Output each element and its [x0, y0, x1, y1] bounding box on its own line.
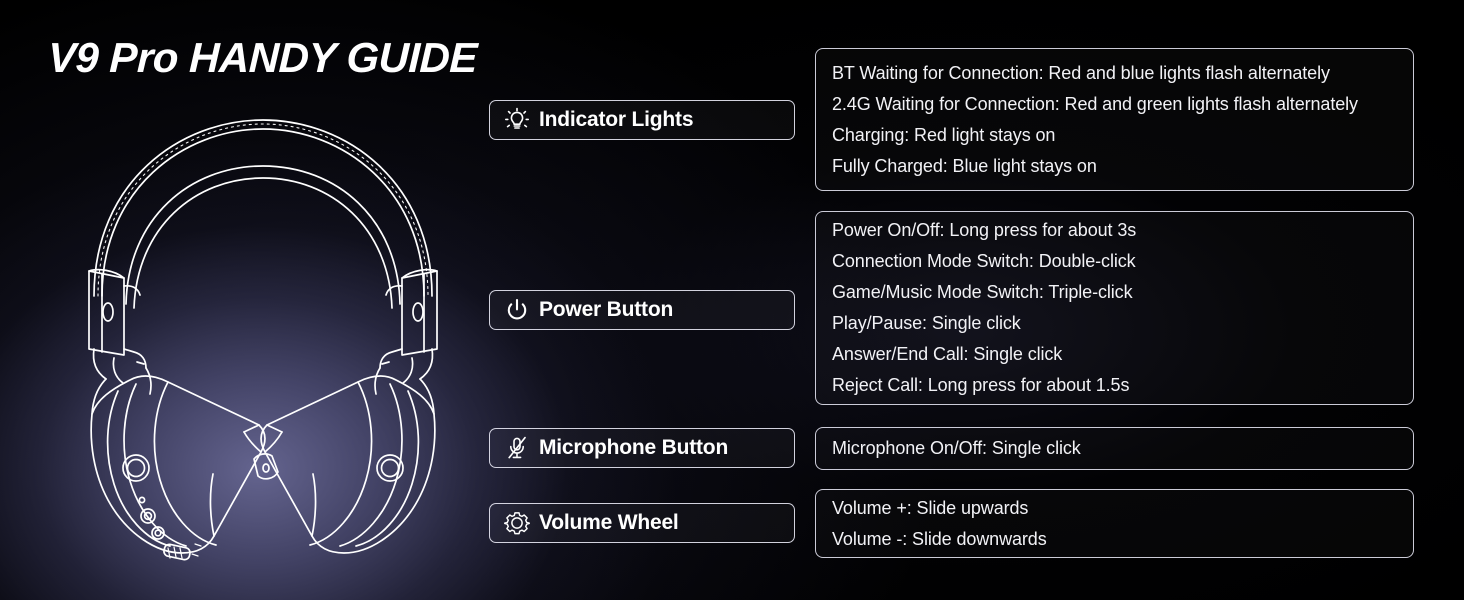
chip-label: Microphone Button — [539, 436, 728, 460]
chip-power-button[interactable]: Power Button — [489, 290, 795, 330]
page-title: V9 Pro HANDY GUIDE — [47, 34, 478, 82]
detail-line: Game/Music Mode Switch: Triple-click — [832, 277, 1397, 308]
chip-microphone-button[interactable]: Microphone Button — [489, 428, 795, 468]
chip-volume-wheel[interactable]: Volume Wheel — [489, 503, 795, 543]
panel-volume-wheel: Volume +: Slide upwards Volume -: Slide … — [815, 489, 1414, 558]
detail-line: Volume +: Slide upwards — [832, 493, 1397, 524]
detail-line: Charging: Red light stays on — [832, 120, 1397, 151]
detail-line: 2.4G Waiting for Connection: Red and gre… — [832, 89, 1397, 120]
chip-indicator-lights[interactable]: Indicator Lights — [489, 100, 795, 140]
microphone-mute-icon — [504, 435, 530, 461]
gear-icon — [504, 510, 530, 536]
panel-indicator-lights: BT Waiting for Connection: Red and blue … — [815, 48, 1414, 191]
lightbulb-icon — [504, 107, 530, 133]
detail-line: Power On/Off: Long press for about 3s — [832, 215, 1397, 246]
power-icon — [504, 297, 530, 323]
headset-illustration — [58, 96, 468, 566]
panel-microphone-button: Microphone On/Off: Single click — [815, 427, 1414, 470]
guide-poster: V9 Pro HANDY GUIDE — [0, 0, 1464, 600]
detail-line: Answer/End Call: Single click — [832, 339, 1397, 370]
detail-line: Microphone On/Off: Single click — [832, 433, 1397, 464]
chip-label: Power Button — [539, 298, 673, 322]
detail-line: Connection Mode Switch: Double-click — [832, 246, 1397, 277]
chip-label: Volume Wheel — [539, 511, 679, 535]
panel-power-button: Power On/Off: Long press for about 3s Co… — [815, 211, 1414, 405]
detail-line: Fully Charged: Blue light stays on — [832, 151, 1397, 182]
chip-label: Indicator Lights — [539, 108, 693, 132]
detail-line: Play/Pause: Single click — [832, 308, 1397, 339]
detail-line: Reject Call: Long press for about 1.5s — [832, 370, 1397, 401]
detail-line: BT Waiting for Connection: Red and blue … — [832, 58, 1397, 89]
detail-line: Volume -: Slide downwards — [832, 524, 1397, 555]
